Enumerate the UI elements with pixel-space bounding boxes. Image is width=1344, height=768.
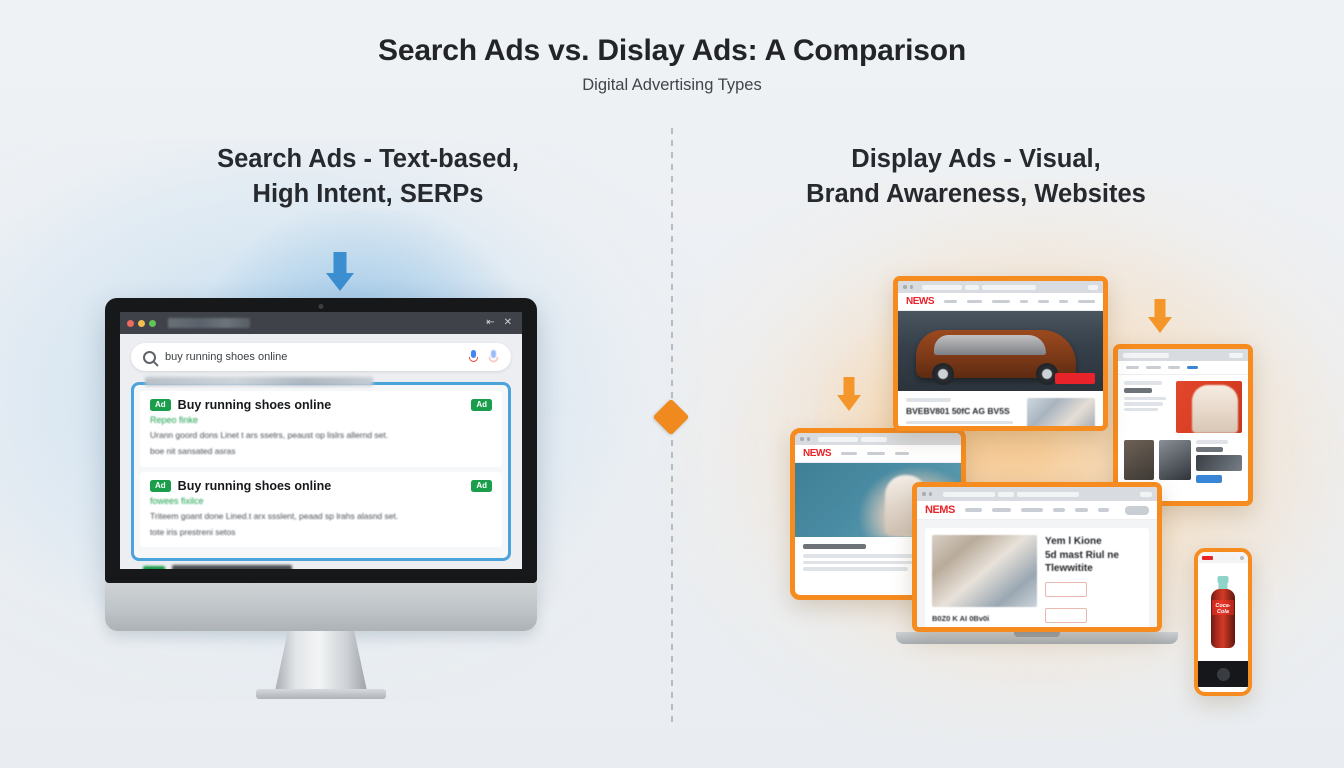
site-nav: NEWS	[795, 445, 961, 463]
article-column	[1124, 381, 1171, 433]
arrow-head	[837, 395, 861, 411]
monitor-chin	[105, 583, 537, 631]
site-nav: NEMS	[917, 501, 1157, 520]
article-section: BVEBV801 50fC AG BV5S	[898, 391, 1103, 431]
article-heading	[1124, 388, 1152, 393]
lens-icon[interactable]	[488, 350, 499, 364]
toolbar-icons	[1229, 353, 1243, 358]
microphone-icon[interactable]	[468, 350, 479, 364]
monitor-stand-neck	[275, 631, 367, 691]
hero-cta-button[interactable]	[1055, 373, 1095, 384]
sidebar-card	[1196, 440, 1242, 483]
suv-car-graphic	[916, 330, 1076, 378]
nav-link[interactable]	[967, 300, 982, 304]
phone-home-bar	[1198, 661, 1248, 687]
ad-badge-right: Ad	[471, 399, 492, 411]
right-heading-line1: Display Ads - Visual,	[726, 142, 1226, 177]
card-headline-line2: 5d mast Riul ne	[1045, 549, 1142, 563]
search-bar[interactable]: buy running shoes online	[131, 343, 511, 371]
coca-cola-bottle-graphic	[1211, 576, 1235, 648]
traffic-light-icon	[910, 285, 914, 289]
arrow-head	[326, 273, 354, 291]
search-input[interactable]: buy running shoes online	[165, 351, 459, 363]
nav-link[interactable]	[841, 452, 857, 456]
traffic-light-icon	[929, 492, 933, 496]
address-bar[interactable]	[818, 437, 858, 442]
monitor-screen: ⇤ ✕ buy running shoes online Ad Buy runn…	[120, 312, 522, 569]
phone-site-header	[1198, 552, 1248, 563]
mini-browser-chrome	[917, 487, 1157, 501]
ad-description-line2: boe nit sansated asras	[150, 445, 492, 457]
ad-title[interactable]: Buy running shoes online	[178, 479, 465, 493]
site-logo[interactable]: NEWS	[906, 296, 934, 307]
organic-title-row	[143, 565, 499, 569]
arrow-head	[1148, 317, 1172, 333]
ad-description-line1: Urann goord dons Linet t ars ssetrs, pea…	[150, 429, 492, 441]
car-wheel	[932, 363, 954, 385]
article-text-line	[906, 421, 1013, 425]
header: Search Ads vs. Dislay Ads: A Comparison …	[0, 0, 1344, 95]
page-subtitle: Digital Advertising Types	[0, 76, 1344, 95]
laptop-base	[896, 632, 1178, 644]
nav-cta[interactable]	[1125, 506, 1149, 515]
display-ad-banner[interactable]	[1176, 381, 1242, 433]
ad-url: fowees fixilce	[150, 496, 492, 506]
nav-link[interactable]	[965, 508, 982, 512]
ad-description-line2: tote iris prestreni setos	[150, 526, 492, 538]
traffic-light-icon	[807, 437, 811, 441]
arrow-stem	[844, 377, 855, 397]
sidebar-photo[interactable]	[1027, 398, 1095, 431]
traffic-light-icon	[903, 285, 907, 289]
card-headline-line1: Yem l Kione	[1045, 535, 1142, 549]
device-laptop-news-fashion[interactable]: NEMS B0Z0 K AI 0Bv0i Yem l Kione 5d mast…	[912, 482, 1162, 632]
phone-ad-area[interactable]	[1198, 563, 1248, 661]
traffic-light-icon	[922, 492, 926, 496]
article-column: BVEBV801 50fC AG BV5S	[906, 398, 1019, 431]
content-row-2	[1124, 440, 1242, 483]
tab-stub[interactable]	[965, 285, 979, 290]
nav-link[interactable]	[1098, 508, 1109, 512]
results-meta-line	[145, 377, 373, 386]
tab-stub[interactable]	[982, 285, 1036, 290]
arrow-stem	[334, 252, 347, 275]
monitor-stand-foot	[256, 689, 386, 699]
webcam-icon	[319, 304, 324, 309]
card-text-line	[1196, 440, 1228, 444]
page-title: Search Ads vs. Dislay Ads: A Comparison	[0, 34, 1344, 68]
nav-link[interactable]	[1059, 300, 1069, 304]
card-headline-line3: Tlewwitite	[1045, 562, 1142, 576]
site-logo[interactable]: NEMS	[925, 504, 955, 516]
fashion-photo[interactable]	[932, 535, 1037, 607]
article-text-line	[906, 427, 1008, 431]
ad-result-2[interactable]: Ad Buy running shoes online Ad fowees fi…	[140, 472, 502, 548]
traffic-light-yellow-icon[interactable]	[138, 320, 145, 327]
photo-column: B0Z0 K AI 0Bv0i	[932, 535, 1037, 632]
organic-title[interactable]	[172, 565, 292, 569]
ad-badge-left: Ad	[150, 399, 171, 411]
address-bar[interactable]	[1123, 353, 1169, 358]
minimize-icon[interactable]: ⇤	[486, 318, 494, 328]
traffic-light-green-icon[interactable]	[149, 320, 156, 327]
down-arrow-icon-orange-1	[831, 377, 867, 419]
page-body: B0Z0 K AI 0Bv0i Yem l Kione 5d mast Riul…	[917, 520, 1157, 632]
card-buttons	[1045, 576, 1142, 628]
nav-link[interactable]	[1168, 366, 1180, 370]
ad-title[interactable]: Buy running shoes online	[178, 398, 465, 412]
left-column-heading: Search Ads - Text-based, High Intent, SE…	[118, 142, 618, 211]
toolbar-icons	[1088, 285, 1098, 290]
search-icon	[143, 351, 156, 364]
close-icon[interactable]: ✕	[504, 318, 512, 328]
traffic-light-red-icon[interactable]	[127, 320, 134, 327]
left-heading-line1: Search Ads - Text-based,	[118, 142, 618, 177]
nav-link[interactable]	[1020, 300, 1029, 304]
article-text-line	[1124, 408, 1158, 412]
thumbnail-image[interactable]	[1124, 440, 1154, 480]
card-button-secondary[interactable]	[1045, 608, 1087, 623]
article-headline[interactable]: BVEBV801 50fC AG BV5S	[906, 406, 1019, 416]
menu-icon[interactable]	[1240, 556, 1244, 560]
right-column-heading: Display Ads - Visual, Brand Awareness, W…	[726, 142, 1226, 211]
home-button-icon[interactable]	[1217, 668, 1230, 681]
nav-link[interactable]	[1126, 366, 1139, 370]
organic-result[interactable]: Sropres firise Inteee is ated it mus.rto…	[131, 561, 511, 569]
ad-title-row: Ad Buy running shoes online Ad	[150, 398, 492, 412]
nav-link[interactable]	[992, 508, 1011, 512]
ad-result-1[interactable]: Ad Buy running shoes online Ad Repeo fin…	[140, 391, 502, 467]
card-cta-button[interactable]	[1196, 475, 1222, 483]
article-heading	[803, 544, 866, 549]
card-heading	[1196, 447, 1223, 452]
featured-card[interactable]: B0Z0 K AI 0Bv0i Yem l Kione 5d mast Riul…	[925, 528, 1149, 632]
site-logo[interactable]: NEWS	[803, 448, 831, 459]
nav-link[interactable]	[1075, 508, 1088, 512]
article-text-line	[803, 567, 908, 571]
hero-car-image[interactable]	[898, 311, 1103, 391]
laptop-notch	[1014, 632, 1060, 637]
card-image[interactable]	[1196, 455, 1242, 471]
ad-description-line1: Triteem goant done Lined.t arx ssslent, …	[150, 510, 492, 522]
serp-page: buy running shoes online Ad Buy running …	[120, 334, 522, 569]
nav-link[interactable]	[1146, 366, 1161, 370]
bottle-body	[1211, 589, 1235, 648]
article-text-line	[1124, 381, 1162, 385]
organic-badge	[143, 566, 165, 569]
banner-model-photo	[1192, 385, 1238, 433]
arrow-stem	[1155, 299, 1166, 319]
browser-chrome: ⇤ ✕	[120, 312, 522, 334]
card-button-primary[interactable]	[1045, 582, 1087, 597]
desktop-monitor: ⇤ ✕ buy running shoes online Ad Buy runn…	[105, 298, 537, 583]
device-monitor-news-car[interactable]: NEWS BVEBV801 50fC AG BV5S	[893, 276, 1108, 431]
mini-browser-chrome	[898, 281, 1103, 293]
photo-caption: B0Z0 K AI 0Bv0i	[932, 614, 1037, 623]
nav-link-active[interactable]	[1187, 366, 1198, 370]
nav-link[interactable]	[895, 452, 909, 456]
down-arrow-icon-orange-2	[1142, 299, 1178, 341]
ads-highlight-box: Ad Buy running shoes online Ad Repeo fin…	[131, 382, 511, 561]
content-row	[1124, 381, 1242, 433]
address-bar[interactable]	[922, 285, 962, 290]
address-bar-extra	[861, 437, 887, 442]
sidebar-column	[1027, 398, 1095, 431]
nav-link[interactable]	[867, 452, 885, 456]
mini-browser-chrome	[1118, 349, 1248, 361]
right-heading-line2: Brand Awareness, Websites	[726, 177, 1226, 212]
site-logo[interactable]	[1202, 556, 1213, 560]
article-kicker	[906, 398, 951, 402]
page-body	[1118, 375, 1248, 489]
nav-link[interactable]	[1053, 508, 1065, 512]
nav-link[interactable]	[1021, 508, 1043, 512]
down-arrow-icon-blue	[320, 252, 360, 298]
mini-browser-chrome	[795, 433, 961, 445]
address-bar[interactable]	[943, 492, 995, 497]
bottle-label	[1212, 600, 1234, 615]
window-controls: ⇤ ✕	[486, 318, 515, 328]
search-results: Ad Buy running shoes online Ad Repeo fin…	[131, 377, 511, 569]
ad-badge-right: Ad	[471, 480, 492, 492]
article-text-line	[1124, 397, 1166, 401]
nav-link[interactable]	[944, 300, 957, 304]
nav-link[interactable]	[1038, 300, 1049, 304]
nav-strip	[1218, 555, 1236, 560]
ad-url: Repeo finke	[150, 415, 492, 425]
site-nav: NEWS	[898, 293, 1103, 311]
device-phone-coke-ad[interactable]	[1194, 548, 1252, 696]
thumbnail-image[interactable]	[1159, 440, 1191, 480]
tab-stub[interactable]	[1017, 492, 1079, 497]
traffic-light-icon	[800, 437, 804, 441]
browser-tab[interactable]	[168, 318, 250, 328]
ad-title-row: Ad Buy running shoes online Ad	[150, 479, 492, 493]
text-column: Yem l Kione 5d mast Riul ne Tlewwitite	[1045, 535, 1142, 632]
tab-stub[interactable]	[998, 492, 1014, 497]
site-nav	[1118, 361, 1248, 375]
left-heading-line2: High Intent, SERPs	[118, 177, 618, 212]
toolbar-icons	[1140, 492, 1152, 497]
nav-link[interactable]	[992, 300, 1010, 304]
article-text-line	[1124, 402, 1163, 406]
ad-badge-left: Ad	[150, 480, 171, 492]
nav-cta[interactable]	[1078, 300, 1095, 304]
